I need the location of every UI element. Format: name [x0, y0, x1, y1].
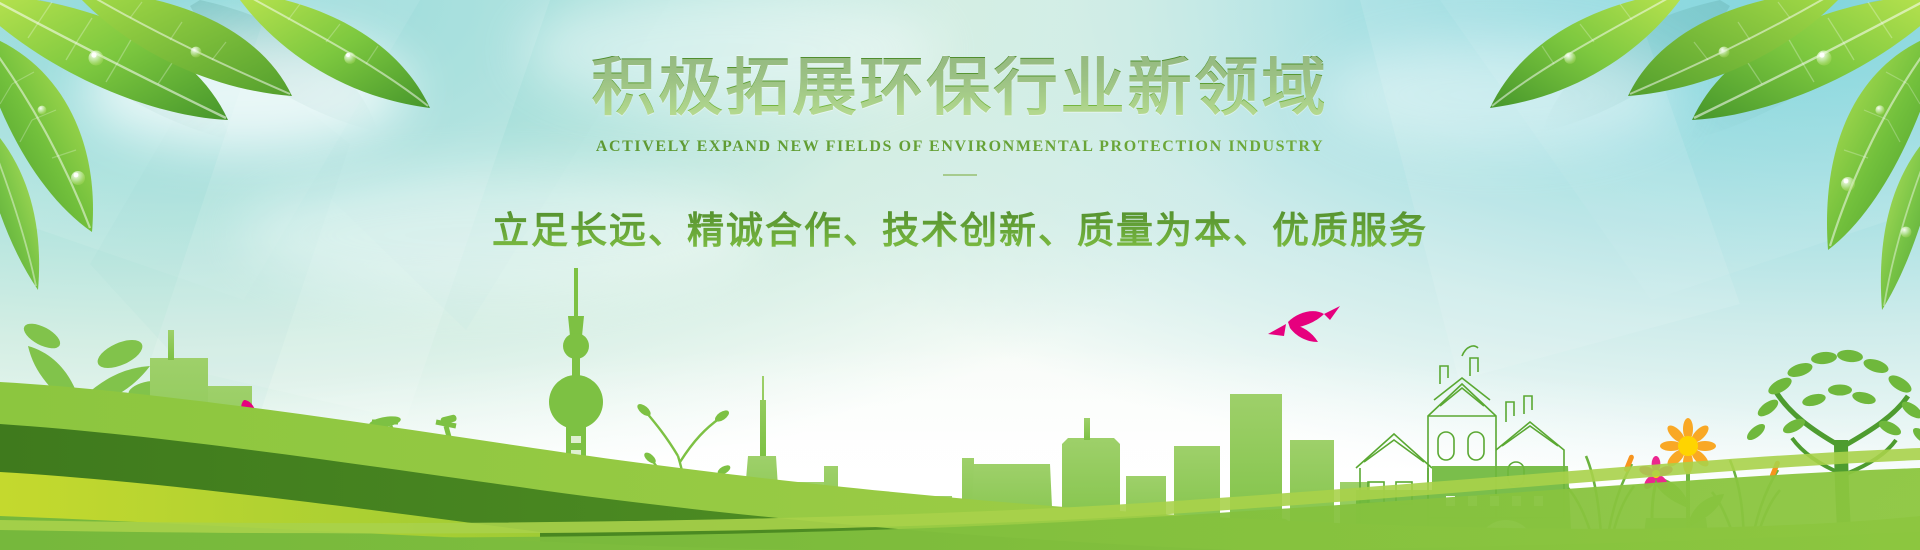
- page-title: 积极拓展环保行业新领域: [0, 56, 1920, 120]
- page-slogan: 立足长远、精诚合作、技术创新、质量为本、优质服务: [0, 200, 1920, 254]
- page-subtitle-english: ACTIVELY EXPAND NEW FIELDS OF ENVIRONMEN…: [0, 138, 1920, 156]
- eco-banner: 积极拓展环保行业新领域 ACTIVELY EXPAND NEW FIELDS O…: [0, 0, 1920, 550]
- title-divider: [943, 174, 977, 176]
- hero-text-block: 积极拓展环保行业新领域 ACTIVELY EXPAND NEW FIELDS O…: [0, 56, 1920, 254]
